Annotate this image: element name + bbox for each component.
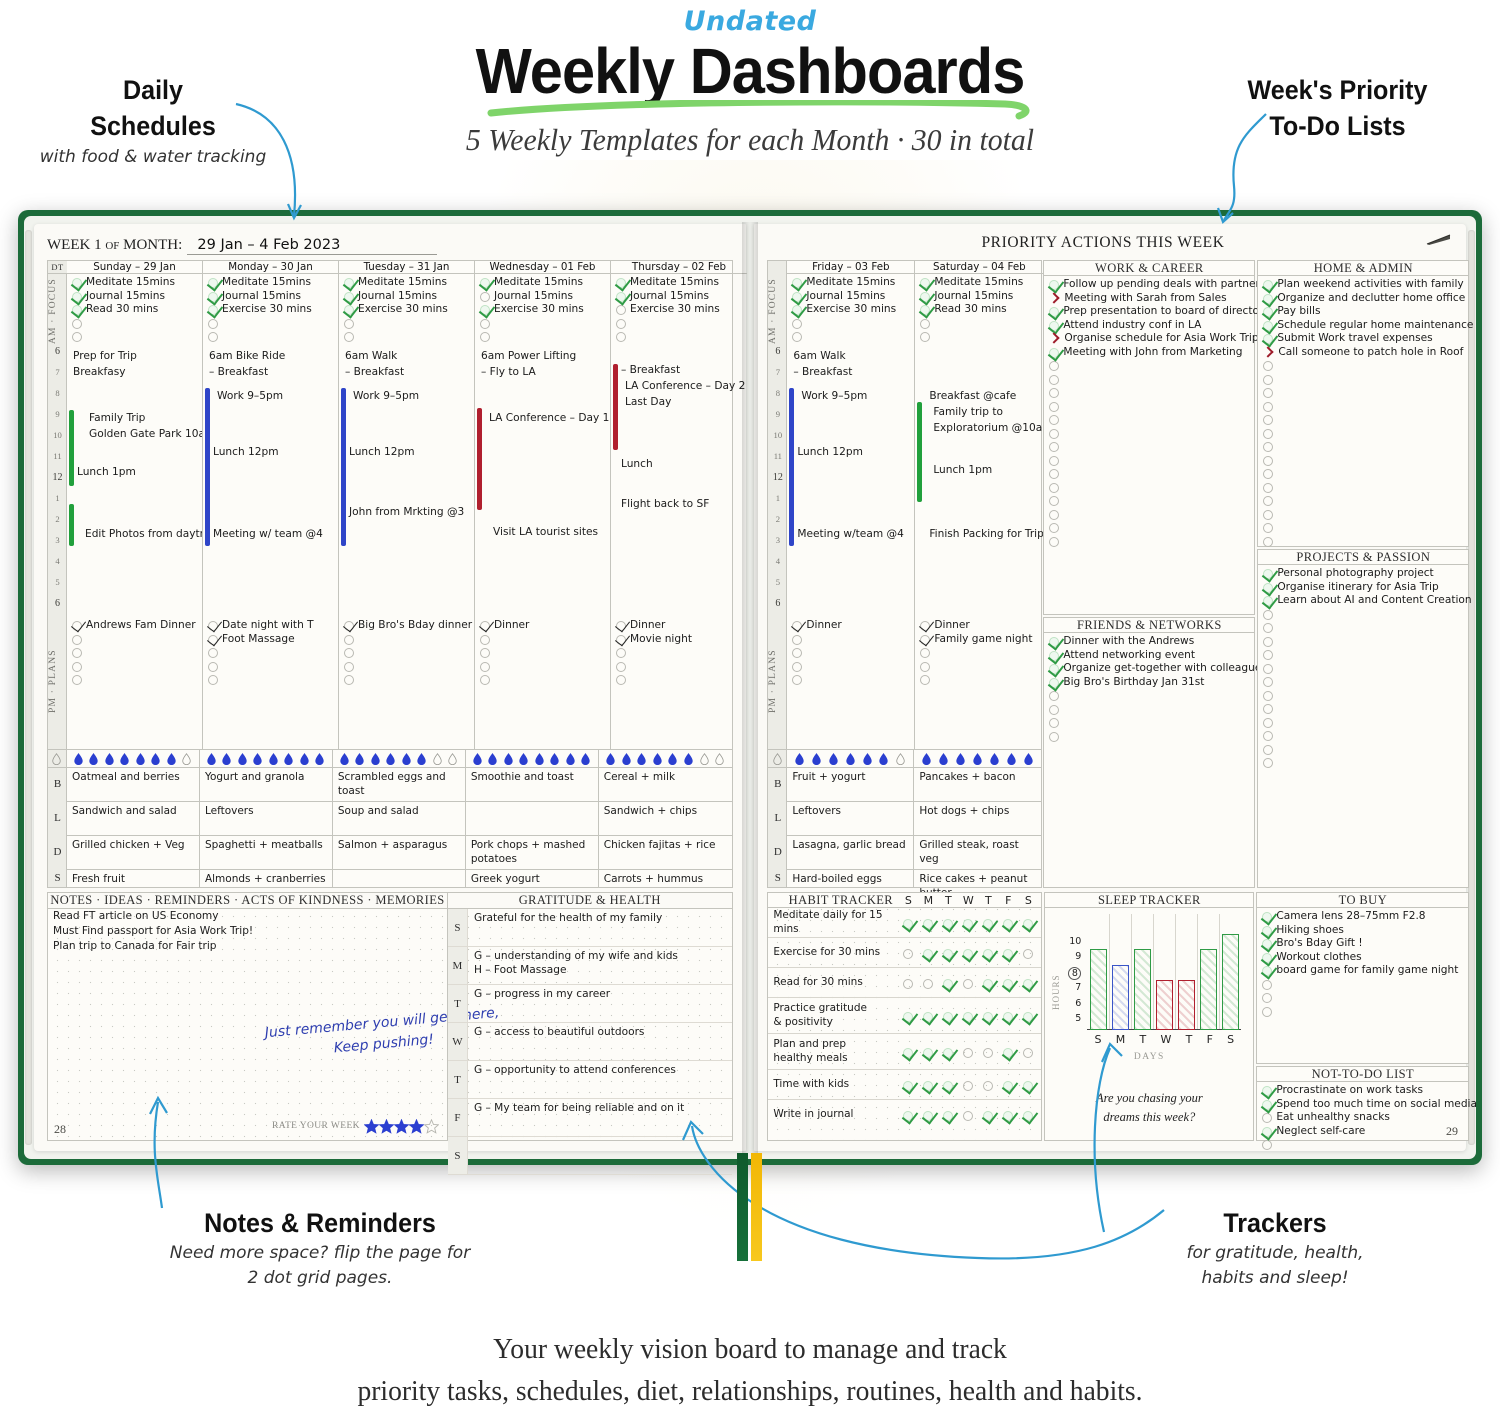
checklist-row[interactable]: Organise schedule for Asia Work Trip xyxy=(1047,332,1254,346)
checklist-row[interactable]: Journal 15mins xyxy=(206,290,338,304)
schedule-time-block[interactable] xyxy=(69,410,74,486)
checkbox-empty[interactable] xyxy=(616,662,626,672)
schedule-time-block[interactable] xyxy=(789,388,794,546)
pm-plans-list[interactable]: DinnerMovie night xyxy=(611,618,747,749)
habit-cell[interactable] xyxy=(981,917,995,929)
water-drop-icon[interactable] xyxy=(606,753,615,765)
checklist-row[interactable]: Meeting with Sarah from Sales xyxy=(1047,292,1254,306)
checkbox-checked[interactable] xyxy=(208,292,218,302)
checkbox-empty[interactable] xyxy=(1263,677,1273,687)
water-drop-icon[interactable] xyxy=(550,753,559,765)
checklist-row[interactable] xyxy=(1261,662,1468,676)
water-drop-icon[interactable] xyxy=(700,753,709,765)
checklist-row[interactable]: Date night with T xyxy=(206,619,338,633)
habit-cell[interactable] xyxy=(941,1079,955,1091)
category-items[interactable]: Plan weekend activities with familyOrgan… xyxy=(1258,276,1468,546)
checklist-row[interactable] xyxy=(1260,1138,1468,1152)
habit-cell[interactable] xyxy=(901,1109,915,1121)
gratitude-row[interactable]: MG – understanding of my wife and kidsH … xyxy=(448,947,732,985)
meal-cell[interactable] xyxy=(466,802,599,835)
checkbox-checked[interactable] xyxy=(963,949,973,959)
checklist-row[interactable] xyxy=(790,317,914,331)
checklist-row[interactable]: Dinner xyxy=(478,619,610,633)
checklist-row[interactable] xyxy=(1047,689,1254,703)
checkbox-empty[interactable] xyxy=(1023,949,1033,959)
water-drop-icon[interactable] xyxy=(386,753,395,765)
meal-cell[interactable]: Sandwich and salad xyxy=(67,802,200,835)
rate-your-week[interactable]: RATE YOUR WEEK xyxy=(272,1116,439,1135)
hydration-day-cell[interactable] xyxy=(333,750,466,767)
checklist-row[interactable]: Big Bro's Bday dinner xyxy=(342,619,474,633)
habit-cell[interactable] xyxy=(1001,917,1015,929)
water-drop-icon[interactable] xyxy=(52,753,61,765)
checkbox-empty[interactable] xyxy=(1049,732,1059,742)
meal-row[interactable]: Fresh fruitAlmonds + cranberriesGreek yo… xyxy=(67,870,732,888)
checkbox-checked[interactable] xyxy=(1262,912,1272,922)
gratitude-row[interactable]: TG – opportunity to attend conferences xyxy=(448,1061,732,1099)
schedule-time-block[interactable] xyxy=(917,402,922,502)
habit-cell[interactable] xyxy=(1021,947,1035,959)
checklist-row[interactable] xyxy=(478,330,610,344)
meal-cell[interactable]: Pancakes + bacon xyxy=(914,768,1041,801)
checkbox-checked[interactable] xyxy=(480,621,490,631)
checkbox-empty[interactable] xyxy=(1263,375,1273,385)
checkbox-checked[interactable] xyxy=(72,305,82,315)
meal-cell[interactable]: Cereal + milk xyxy=(599,768,732,801)
checkbox-empty[interactable] xyxy=(208,648,218,658)
schedule-event[interactable]: Lunch 12pm xyxy=(349,446,415,460)
checkbox-checked[interactable] xyxy=(943,1111,953,1121)
schedule-event[interactable]: Meeting w/team @4 xyxy=(797,528,904,542)
habit-cell[interactable] xyxy=(1001,1046,1015,1058)
checklist-row[interactable] xyxy=(1047,703,1254,717)
checkbox-empty[interactable] xyxy=(1049,456,1059,466)
checkbox-empty[interactable] xyxy=(983,1081,993,1091)
checklist-row[interactable] xyxy=(1261,716,1468,730)
checklist-row[interactable]: Andrews Fam Dinner xyxy=(70,619,202,633)
checkbox-empty[interactable] xyxy=(480,662,490,672)
gratitude-row[interactable]: S xyxy=(448,1137,732,1175)
checkbox-checked[interactable] xyxy=(792,621,802,631)
water-drop-icon[interactable] xyxy=(151,753,160,765)
schedule-area[interactable]: 6am Power Lifting– Fly to LALA Conferenc… xyxy=(475,346,610,618)
checkbox-empty[interactable] xyxy=(1263,483,1273,493)
checklist-row[interactable]: Exercise 30 mins xyxy=(614,303,747,317)
habit-cell[interactable] xyxy=(941,1010,955,1022)
checklist-row[interactable] xyxy=(790,646,914,660)
habit-row[interactable]: Write in journal xyxy=(768,1100,1041,1130)
checkbox-empty[interactable] xyxy=(1263,442,1273,452)
meal-cell[interactable]: Leftovers xyxy=(787,802,914,835)
hydration-day-cell[interactable] xyxy=(787,750,914,767)
schedule-area[interactable]: – BreakfastLA Conference – Day 2Last Day… xyxy=(611,346,747,618)
water-drop-icon[interactable] xyxy=(535,753,544,765)
schedule-event[interactable]: 6am Walk xyxy=(793,350,845,364)
habit-cell[interactable] xyxy=(1021,1109,1035,1121)
water-drop-icon[interactable] xyxy=(448,753,457,765)
habit-tracker[interactable]: HABIT TRACKERSMTWTFSMeditate daily for 1… xyxy=(767,892,1042,1141)
habit-cell[interactable] xyxy=(921,917,935,929)
checkbox-empty[interactable] xyxy=(1263,469,1273,479)
checklist-row[interactable]: Neglect self-care xyxy=(1260,1125,1468,1139)
checkbox-empty[interactable] xyxy=(1263,691,1273,701)
gratitude-text[interactable]: G – access to beautiful outdoors xyxy=(468,1023,645,1060)
checklist-row[interactable] xyxy=(1047,730,1254,744)
schedule-area[interactable]: 6am Bike Ride– BreakfastWork 9–5pmLunch … xyxy=(203,346,338,618)
checkbox-empty[interactable] xyxy=(1049,483,1059,493)
checkbox-checked[interactable] xyxy=(208,635,218,645)
habit-row[interactable]: Meditate daily for 15 mins xyxy=(768,908,1041,938)
checkbox-empty[interactable] xyxy=(1263,664,1273,674)
meal-cell[interactable]: Oatmeal and berries xyxy=(67,768,200,801)
meal-cell[interactable]: Fresh fruit xyxy=(67,870,200,888)
schedule-event[interactable]: – Breakfast xyxy=(345,366,404,380)
checkbox-empty[interactable] xyxy=(1049,361,1059,371)
habit-marks[interactable] xyxy=(901,977,1041,989)
checkbox-checked[interactable] xyxy=(1049,637,1059,647)
schedule-event[interactable]: Lunch 12pm xyxy=(797,446,863,460)
checkbox-empty[interactable] xyxy=(72,635,82,645)
checklist-row[interactable] xyxy=(1047,427,1254,441)
checkbox-checked[interactable] xyxy=(1262,966,1272,976)
checkbox-checked[interactable] xyxy=(1023,1012,1033,1022)
checkbox-empty[interactable] xyxy=(1262,1113,1272,1123)
checklist-row[interactable] xyxy=(918,673,1043,687)
schedule-event[interactable]: Family Trip xyxy=(89,412,145,426)
checklist-row[interactable] xyxy=(1261,454,1468,468)
meal-cell[interactable] xyxy=(333,870,466,888)
category-work-career[interactable]: WORK & CAREERFollow up pending deals wit… xyxy=(1043,260,1255,615)
checklist-row[interactable] xyxy=(790,330,914,344)
checkbox-empty[interactable] xyxy=(72,332,82,342)
checkbox-checked[interactable] xyxy=(920,278,930,288)
category-items[interactable]: Personal photography projectOrganise iti… xyxy=(1258,565,1468,887)
schedule-area[interactable]: 6am Walk– BreakfastWork 9–5pmLunch 12pmM… xyxy=(787,346,914,618)
water-drop-icon[interactable] xyxy=(284,753,293,765)
habit-row[interactable]: Read for 30 mins xyxy=(768,968,1041,998)
checkbox-empty[interactable] xyxy=(1263,537,1273,547)
checkbox-empty[interactable] xyxy=(792,332,802,342)
checklist-row[interactable]: Meditate 15mins xyxy=(478,276,610,290)
sleep-bar[interactable] xyxy=(1112,965,1129,1030)
schedule-event[interactable]: Finish Packing for Trip xyxy=(929,528,1043,542)
day-body[interactable]: Meditate 15minsJournal 15minsExercise 30… xyxy=(475,274,610,749)
water-drop-icon[interactable] xyxy=(167,753,176,765)
habit-cell[interactable] xyxy=(941,977,955,989)
checklist-row[interactable] xyxy=(1261,427,1468,441)
checklist-row[interactable] xyxy=(478,317,610,331)
checkbox-empty[interactable] xyxy=(1049,402,1059,412)
checkbox-empty[interactable] xyxy=(72,319,82,329)
checkbox-empty[interactable] xyxy=(920,662,930,672)
gratitude-row[interactable]: SGrateful for the health of my family xyxy=(448,909,732,947)
meal-cell[interactable]: Fruit + yogurt xyxy=(787,768,914,801)
water-drop-icon[interactable] xyxy=(956,753,965,765)
checkbox-empty[interactable] xyxy=(1049,388,1059,398)
gratitude-text[interactable] xyxy=(468,1137,477,1174)
checkbox-empty[interactable] xyxy=(480,292,490,302)
am-focus-list[interactable]: Meditate 15minsJournal 15minsRead 30 min… xyxy=(915,274,1043,346)
habit-cell[interactable] xyxy=(961,1046,975,1058)
habit-cell[interactable] xyxy=(981,977,995,989)
checkbox-checked[interactable] xyxy=(923,1111,933,1121)
schedule-event[interactable]: Lunch xyxy=(621,458,653,472)
checklist-row[interactable] xyxy=(206,330,338,344)
checklist-row[interactable]: Journal 15mins xyxy=(478,290,610,304)
checklist-row[interactable]: Pay bills xyxy=(1261,305,1468,319)
checkbox-checked[interactable] xyxy=(72,621,82,631)
checkbox-empty[interactable] xyxy=(1049,375,1059,385)
checklist-row[interactable]: Meditate 15mins xyxy=(918,276,1043,290)
checklist-row[interactable] xyxy=(70,633,202,647)
schedule-event[interactable]: Edit Photos from daytrip xyxy=(85,528,203,542)
checkbox-checked[interactable] xyxy=(983,949,993,959)
gratitude-body[interactable]: SGrateful for the health of my familyMG … xyxy=(448,909,732,1140)
schedule-area[interactable]: Breakfast @cafeFamily trip toExploratori… xyxy=(915,346,1043,618)
water-drop-icon[interactable] xyxy=(315,753,324,765)
checkbox-checked[interactable] xyxy=(1262,1100,1272,1110)
checkbox-checked[interactable] xyxy=(903,919,913,929)
checkbox-checked[interactable] xyxy=(1262,939,1272,949)
checklist-row[interactable] xyxy=(342,673,474,687)
schedule-time-block[interactable] xyxy=(477,408,482,510)
checkbox-checked[interactable] xyxy=(344,292,354,302)
arrow-marker-icon[interactable] xyxy=(1049,293,1060,304)
note-line[interactable]: Read FT article on US Economy xyxy=(48,909,447,924)
checkbox-checked[interactable] xyxy=(1262,1086,1272,1096)
checkbox-checked[interactable] xyxy=(920,621,930,631)
checklist-row[interactable] xyxy=(918,317,1043,331)
hydration-day-cell[interactable] xyxy=(67,750,200,767)
checkbox-empty[interactable] xyxy=(1263,731,1273,741)
day-column[interactable]: Thursday – 02 FebMeditate 15minsJournal … xyxy=(611,261,747,749)
checklist-row[interactable]: Journal 15mins xyxy=(790,290,914,304)
checkbox-checked[interactable] xyxy=(1023,919,1033,929)
to-buy-list[interactable]: TO BUYCamera lens 28–75mm F2.8Hiking sho… xyxy=(1256,892,1469,1064)
water-drop-icon[interactable] xyxy=(653,753,662,765)
checkbox-checked[interactable] xyxy=(923,1012,933,1022)
checkbox-checked[interactable] xyxy=(616,635,626,645)
am-focus-list[interactable]: Meditate 15minsJournal 15minsExercise 30… xyxy=(611,274,747,346)
checkbox-empty[interactable] xyxy=(1263,623,1273,633)
checklist-row[interactable] xyxy=(790,660,914,674)
not-to-do-list[interactable]: NOT-TO-DO LISTProcrastinate on work task… xyxy=(1256,1066,1469,1141)
water-drop-icon[interactable] xyxy=(504,753,513,765)
am-focus-list[interactable]: Meditate 15minsJournal 15minsExercise 30… xyxy=(787,274,914,346)
habit-row[interactable]: Plan and prephealthy meals xyxy=(768,1034,1041,1070)
checkbox-checked[interactable] xyxy=(903,1012,913,1022)
checklist-row[interactable] xyxy=(342,646,474,660)
habit-cell[interactable] xyxy=(1021,977,1035,989)
water-drop-icon[interactable] xyxy=(136,753,145,765)
checkbox-checked[interactable] xyxy=(903,1081,913,1091)
schedule-event[interactable]: Prep for Trip xyxy=(73,350,137,364)
note-line[interactable]: Must Find passport for Asia Work Trip! xyxy=(48,924,447,939)
star-icon[interactable] xyxy=(424,1119,439,1134)
sleep-bar[interactable] xyxy=(1222,934,1239,1030)
water-drop-icon[interactable] xyxy=(182,753,191,765)
day-body[interactable]: Meditate 15minsJournal 15minsExercise 30… xyxy=(611,274,747,749)
checkbox-empty[interactable] xyxy=(480,332,490,342)
checklist-row[interactable] xyxy=(1047,440,1254,454)
checklist-row[interactable] xyxy=(1260,978,1468,992)
habit-row[interactable]: Time with kids xyxy=(768,1070,1041,1100)
checklist-row[interactable]: Personal photography project xyxy=(1261,567,1468,581)
checkbox-checked[interactable] xyxy=(943,1081,953,1091)
gratitude-text[interactable]: G – understanding of my wife and kidsH –… xyxy=(468,947,678,984)
meal-cell[interactable]: Pork chops + mashed potatoes xyxy=(466,836,599,869)
checklist-row[interactable]: Follow up pending deals with partners xyxy=(1047,278,1254,292)
checklist-row[interactable]: Bro's Bday Gift ! xyxy=(1260,937,1468,951)
note-line[interactable]: Plan trip to Canada for Fair trip xyxy=(48,939,447,954)
habit-cell[interactable] xyxy=(961,1079,975,1091)
checkbox-checked[interactable] xyxy=(943,919,953,929)
checkbox-empty[interactable] xyxy=(983,1048,993,1058)
schedule-time-block[interactable] xyxy=(341,388,346,546)
habit-rows[interactable]: Meditate daily for 15 minsExercise for 3… xyxy=(768,908,1041,1140)
checkbox-empty[interactable] xyxy=(903,979,913,989)
checklist-row[interactable]: Meditate 15mins xyxy=(70,276,202,290)
habit-cell[interactable] xyxy=(1001,1079,1015,1091)
checklist-row[interactable] xyxy=(1261,481,1468,495)
checklist-row[interactable] xyxy=(1047,359,1254,373)
habit-cell[interactable] xyxy=(961,917,975,929)
checkbox-checked[interactable] xyxy=(1049,664,1059,674)
checkbox-checked[interactable] xyxy=(1263,294,1273,304)
checkbox-checked[interactable] xyxy=(1049,307,1059,317)
checkbox-empty[interactable] xyxy=(1049,705,1059,715)
day-column[interactable]: Saturday – 04 FebMeditate 15minsJournal … xyxy=(915,261,1043,749)
checklist-row[interactable] xyxy=(206,660,338,674)
checklist-row[interactable] xyxy=(918,330,1043,344)
checkbox-checked[interactable] xyxy=(1262,926,1272,936)
habit-cell[interactable] xyxy=(921,1079,935,1091)
habit-cell[interactable] xyxy=(921,947,935,959)
water-drop-icon[interactable] xyxy=(973,753,982,765)
day-body[interactable]: Meditate 15minsJournal 15minsExercise 30… xyxy=(787,274,914,749)
checkbox-empty[interactable] xyxy=(72,648,82,658)
checkbox-empty[interactable] xyxy=(1049,510,1059,520)
meal-row[interactable]: Sandwich and saladLeftoversSoup and sala… xyxy=(67,802,732,836)
checkbox-checked[interactable] xyxy=(1003,1012,1013,1022)
checklist-row[interactable] xyxy=(342,330,474,344)
meal-row[interactable]: Lasagna, garlic breadGrilled steak, roas… xyxy=(787,836,1041,870)
checklist-row[interactable]: Submit Work travel expenses xyxy=(1261,332,1468,346)
meal-cell[interactable]: Greek yogurt xyxy=(466,870,599,888)
checklist-row[interactable]: Workout clothes xyxy=(1260,951,1468,965)
checkbox-checked[interactable] xyxy=(1023,1111,1033,1121)
checklist-row[interactable]: Foot Massage xyxy=(206,633,338,647)
checkbox-empty[interactable] xyxy=(920,319,930,329)
sleep-bar[interactable] xyxy=(1156,980,1173,1030)
checklist-row[interactable] xyxy=(206,646,338,660)
checkbox-checked[interactable] xyxy=(1049,321,1059,331)
checkbox-empty[interactable] xyxy=(1262,1140,1272,1150)
checklist-row[interactable] xyxy=(70,660,202,674)
habit-marks[interactable] xyxy=(901,1079,1041,1091)
checklist-row[interactable] xyxy=(206,673,338,687)
checkbox-checked[interactable] xyxy=(983,919,993,929)
habit-cell[interactable] xyxy=(981,1109,995,1121)
habit-cell[interactable] xyxy=(1001,947,1015,959)
meal-cell[interactable]: Leftovers xyxy=(200,802,333,835)
checklist-row[interactable]: Movie night xyxy=(614,633,747,647)
sleep-bar[interactable] xyxy=(1178,980,1195,1030)
checklist-row[interactable]: Organise itinerary for Asia Trip xyxy=(1261,581,1468,595)
meal-row[interactable]: Fruit + yogurtPancakes + bacon xyxy=(787,768,1041,802)
checklist-row[interactable] xyxy=(1261,729,1468,743)
checklist-row[interactable] xyxy=(918,660,1043,674)
water-drop-icon[interactable] xyxy=(896,753,905,765)
checklist-row[interactable]: Exercise 30 mins xyxy=(342,303,474,317)
habit-cell[interactable] xyxy=(981,1010,995,1022)
star-icon[interactable] xyxy=(364,1119,379,1134)
meal-row[interactable]: Hard-boiled eggsRice cakes + peanut butt… xyxy=(787,870,1041,888)
checkbox-checked[interactable] xyxy=(943,1012,953,1022)
am-focus-list[interactable]: Meditate 15minsJournal 15minsRead 30 min… xyxy=(67,274,202,346)
habit-cell[interactable] xyxy=(901,917,915,929)
checklist-row[interactable] xyxy=(1261,535,1468,549)
checklist-row[interactable]: Family game night xyxy=(918,633,1043,647)
checkbox-empty[interactable] xyxy=(208,332,218,342)
checklist-row[interactable] xyxy=(1261,373,1468,387)
checklist-row[interactable]: Dinner xyxy=(614,619,747,633)
checklist-row[interactable]: Hiking shoes xyxy=(1260,924,1468,938)
gratitude-text[interactable]: Grateful for the health of my family xyxy=(468,909,662,946)
checkbox-checked[interactable] xyxy=(1263,334,1273,344)
water-drop-icon[interactable] xyxy=(222,753,231,765)
water-drop-icon[interactable] xyxy=(684,753,693,765)
checklist-row[interactable]: Meditate 15mins xyxy=(790,276,914,290)
water-drop-icon[interactable] xyxy=(473,753,482,765)
schedule-event[interactable]: 6am Walk xyxy=(345,350,397,364)
schedule-event[interactable]: Golden Gate Park 10am xyxy=(89,428,203,442)
water-drop-icon[interactable] xyxy=(519,753,528,765)
meal-row[interactable]: LeftoversHot dogs + chips xyxy=(787,802,1041,836)
habit-cell[interactable] xyxy=(901,1046,915,1058)
water-drop-icon[interactable] xyxy=(829,753,838,765)
checklist-row[interactable] xyxy=(918,646,1043,660)
water-drop-icon[interactable] xyxy=(879,753,888,765)
checklist-row[interactable]: Meditate 15mins xyxy=(614,276,747,290)
water-drop-icon[interactable] xyxy=(120,753,129,765)
checkbox-empty[interactable] xyxy=(1263,610,1273,620)
checkbox-empty[interactable] xyxy=(480,635,490,645)
checklist-row[interactable]: Camera lens 28–75mm F2.8 xyxy=(1260,910,1468,924)
water-drop-icon[interactable] xyxy=(238,753,247,765)
checkbox-empty[interactable] xyxy=(344,332,354,342)
checklist-row[interactable]: Eat unhealthy snacks xyxy=(1260,1111,1468,1125)
day-body[interactable]: Meditate 15minsJournal 15minsExercise 30… xyxy=(339,274,474,749)
water-drop-icon[interactable] xyxy=(581,753,590,765)
checkbox-empty[interactable] xyxy=(1263,429,1273,439)
water-drop-icon[interactable] xyxy=(812,753,821,765)
checklist-row[interactable]: Schedule regular home maintenance xyxy=(1261,319,1468,333)
checkbox-empty[interactable] xyxy=(480,319,490,329)
category-home-admin[interactable]: HOME & ADMINPlan weekend activities with… xyxy=(1257,260,1469,547)
checklist-row[interactable]: Big Bro's Birthday Jan 31st xyxy=(1047,676,1254,690)
checkbox-checked[interactable] xyxy=(923,1048,933,1058)
checklist-row[interactable] xyxy=(478,673,610,687)
habit-cell[interactable] xyxy=(1001,1109,1015,1121)
checkbox-empty[interactable] xyxy=(903,949,913,959)
habit-cell[interactable] xyxy=(961,947,975,959)
checkbox-empty[interactable] xyxy=(344,635,354,645)
checkbox-empty[interactable] xyxy=(1263,637,1273,647)
checkbox-checked[interactable] xyxy=(1003,1111,1013,1121)
checkbox-checked[interactable] xyxy=(1263,569,1273,579)
checkbox-checked[interactable] xyxy=(1049,678,1059,688)
